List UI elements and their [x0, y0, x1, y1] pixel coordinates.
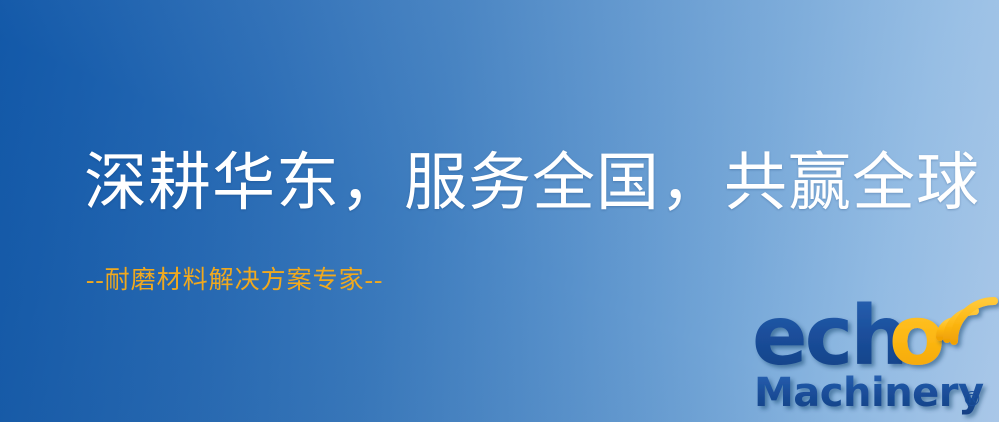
banner-subtitle: --耐磨材料解决方案专家-- [86, 268, 383, 293]
echo-machinery-logo[interactable]: ech o Machinery ® [752, 296, 995, 418]
logo-tagline-machinery: Machinery [754, 370, 984, 416]
banner-headline: 深耕华东，服务全国，共赢全球 [84, 152, 980, 215]
signal-arcs-icon [940, 301, 994, 341]
promotional-banner: 深耕华东，服务全国，共赢全球 --耐磨材料解决方案专家-- [0, 0, 999, 422]
logo-registered-mark: ® [962, 387, 982, 411]
